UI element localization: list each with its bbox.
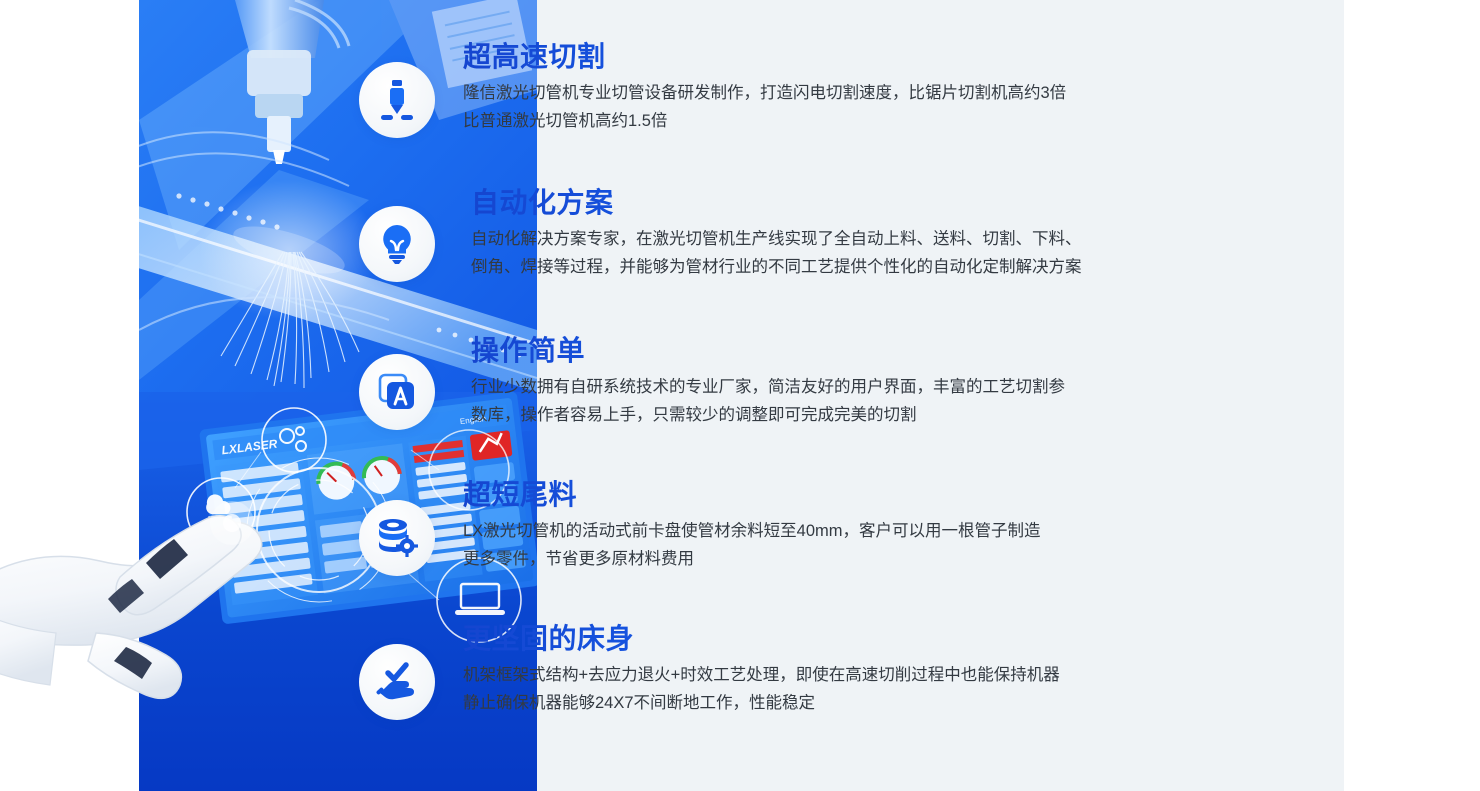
feature-title: 超高速切割 — [463, 40, 1066, 73]
feature-description-line: LX激光切管机的活动式前卡盘使管材余料短至40mm，客户可以用一根管子制造 — [463, 517, 1041, 545]
feature-description: 机架框架式结构+去应力退火+时效工艺处理，即使在高速切削过程中也能保持机器 静止… — [463, 661, 1060, 718]
feature-description-line: 自动化解决方案专家，在激光切管机生产线实现了全自动上料、送料、切割、下料、 — [471, 225, 1082, 253]
feature-item: 自动化方案 自动化解决方案专家，在激光切管机生产线实现了全自动上料、送料、切割、… — [359, 186, 1082, 282]
feature-description-line: 更多零件，节省更多原材料费用 — [463, 545, 1041, 573]
feature-description-line: 倒角、焊接等过程，并能够为管材行业的不同工艺提供个性化的自动化定制解决方案 — [471, 253, 1082, 281]
feature-text-block: 超高速切割 隆信激光切管机专业切管设备研发制作，打造闪电切割速度，比锯片切割机高… — [463, 40, 1066, 136]
feature-description-line: 比普通激光切管机高约1.5倍 — [463, 107, 1066, 135]
feature-description: 行业少数拥有自研系统技术的专业厂家，简洁友好的用户界面，丰富的工艺切割参 数库，… — [471, 373, 1065, 430]
hand-check-icon — [359, 644, 435, 720]
feature-item: 超短尾料 LX激光切管机的活动式前卡盘使管材余料短至40mm，客户可以用一根管子… — [359, 478, 1041, 576]
feature-item: 操作简单 行业少数拥有自研系统技术的专业厂家，简洁友好的用户界面，丰富的工艺切割… — [359, 334, 1065, 430]
database-gear-glyph — [376, 518, 418, 558]
feature-text-block: 操作简单 行业少数拥有自研系统技术的专业厂家，简洁友好的用户界面，丰富的工艺切割… — [471, 334, 1065, 430]
hand-check-glyph — [375, 662, 419, 702]
feature-item: 更坚固的床身 机架框架式结构+去应力退火+时效工艺处理，即使在高速切削过程中也能… — [359, 622, 1060, 720]
app-window-a-glyph — [376, 371, 418, 413]
feature-description: 隆信激光切管机专业切管设备研发制作，打造闪电切割速度，比锯片切割机高约3倍 比普… — [463, 79, 1066, 136]
feature-description-line: 静止确保机器能够24X7不间断地工作，性能稳定 — [463, 689, 1060, 717]
feature-description-line: 隆信激光切管机专业切管设备研发制作，打造闪电切割速度，比锯片切割机高约3倍 — [463, 79, 1066, 107]
feature-text-block: 超短尾料 LX激光切管机的活动式前卡盘使管材余料短至40mm，客户可以用一根管子… — [463, 478, 1041, 574]
feature-title: 自动化方案 — [471, 186, 1082, 219]
lightbulb-icon — [359, 206, 435, 282]
feature-text-block: 自动化方案 自动化解决方案专家，在激光切管机生产线实现了全自动上料、送料、切割、… — [471, 186, 1082, 282]
page-root: LXLASER English — [0, 0, 1480, 791]
app-window-a-icon — [359, 354, 435, 430]
feature-title: 更坚固的床身 — [463, 622, 1060, 655]
feature-description: LX激光切管机的活动式前卡盘使管材余料短至40mm，客户可以用一根管子制造 更多… — [463, 517, 1041, 574]
feature-description-line: 数库，操作者容易上手，只需较少的调整即可完成完美的切割 — [471, 401, 1065, 429]
feature-item: 超高速切割 隆信激光切管机专业切管设备研发制作，打造闪电切割速度，比锯片切割机高… — [359, 40, 1066, 138]
database-gear-icon — [359, 500, 435, 576]
feature-description: 自动化解决方案专家，在激光切管机生产线实现了全自动上料、送料、切割、下料、 倒角… — [471, 225, 1082, 282]
feature-title: 操作简单 — [471, 334, 1065, 367]
lightbulb-glyph — [377, 223, 417, 265]
feature-text-block: 更坚固的床身 机架框架式结构+去应力退火+时效工艺处理，即使在高速切削过程中也能… — [463, 622, 1060, 718]
feature-description-line: 行业少数拥有自研系统技术的专业厂家，简洁友好的用户界面，丰富的工艺切割参 — [471, 373, 1065, 401]
feature-title: 超短尾料 — [463, 478, 1041, 511]
feature-description-line: 机架框架式结构+去应力退火+时效工艺处理，即使在高速切削过程中也能保持机器 — [463, 661, 1060, 689]
laser-cutting-head-icon — [359, 62, 435, 138]
laser-cutting-head-glyph — [377, 79, 417, 121]
